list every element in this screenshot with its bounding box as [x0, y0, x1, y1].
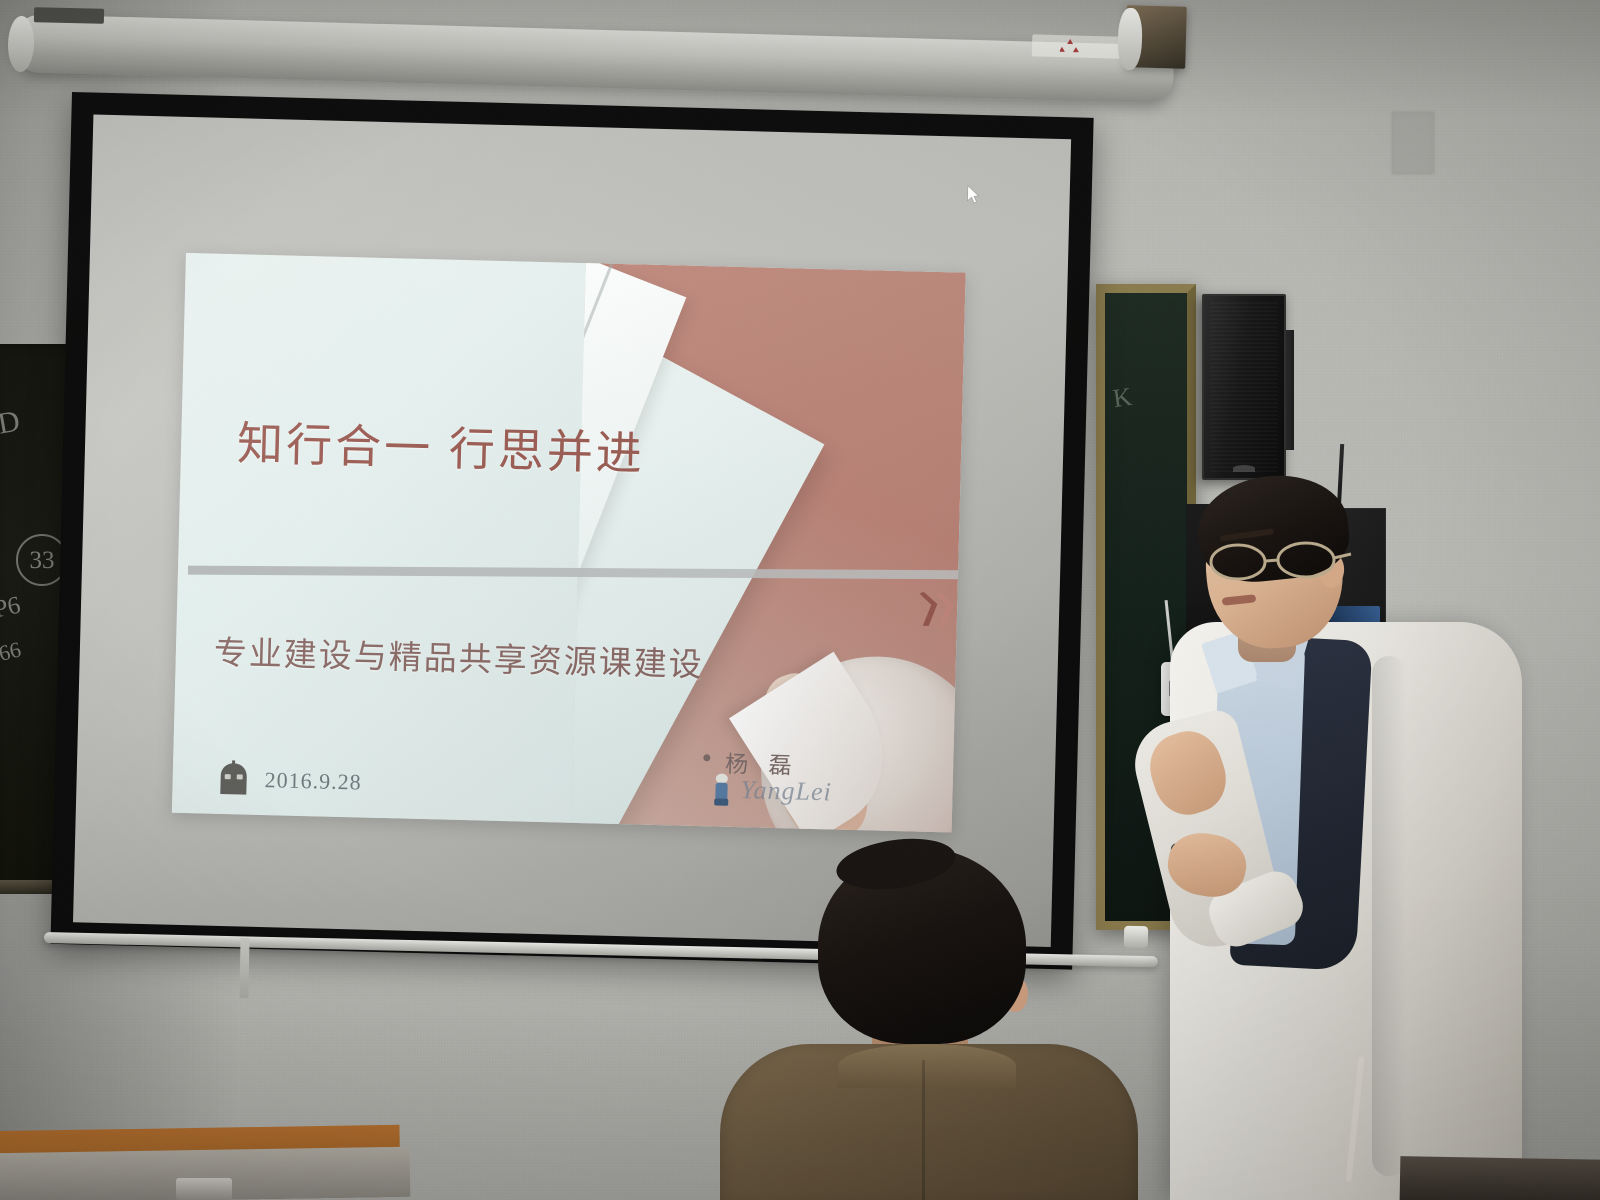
chalk-mark: D [0, 404, 22, 441]
projection-screen-surface[interactable]: 知行合一 行思并进 专业建设与精品共享资源课建设 杨 磊 YangLei [73, 115, 1071, 947]
slide-date: 2016.9.28 [264, 767, 362, 795]
presentation-slide[interactable]: 知行合一 行思并进 专业建设与精品共享资源课建设 杨 磊 YangLei [172, 253, 966, 833]
classroom-scene: D P6 33 266 K [0, 0, 1600, 1200]
chalk-mark: P6 [0, 592, 23, 625]
screen-side-strap [239, 938, 249, 998]
roller-mount-bracket [34, 7, 104, 24]
audience-collar [838, 1044, 1016, 1088]
wall-outlet-panel [1392, 112, 1434, 174]
wall-speaker [1202, 294, 1286, 480]
double-chevron-icon [919, 590, 964, 631]
projection-screen[interactable]: 知行合一 行思并进 专业建设与精品共享资源课建设 杨 磊 YangLei [50, 92, 1093, 970]
desk-bracket [176, 1178, 232, 1200]
mascot-icon [710, 772, 733, 807]
slide-signature: YangLei [740, 775, 832, 807]
jacket-seam [922, 1060, 925, 1200]
mouse-pointer-icon [966, 185, 981, 205]
glasses-icon [1204, 540, 1354, 584]
speaker-grille [1210, 302, 1278, 472]
institution-logo [212, 760, 255, 797]
audience-person [690, 848, 1140, 1200]
chalk-mark: K [1111, 382, 1134, 414]
jacket-fold-shadow [1372, 656, 1406, 1176]
brand-logo-icon [1060, 38, 1080, 57]
desk-right-edge [1400, 1156, 1600, 1200]
presenter-person [1142, 470, 1542, 1200]
chalk-mark: 266 [0, 636, 24, 669]
